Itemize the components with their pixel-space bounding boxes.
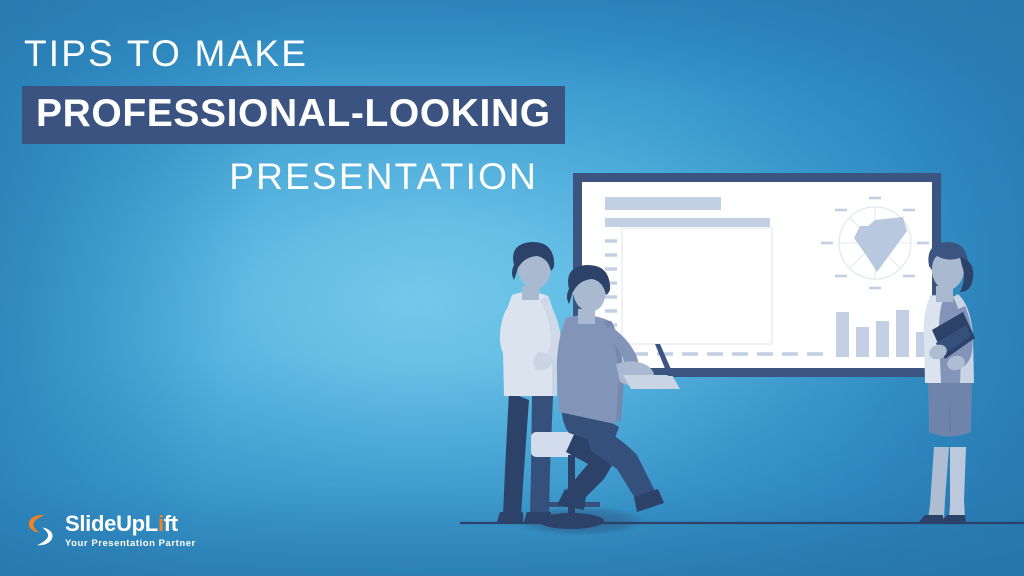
man1-leg-back (503, 392, 529, 515)
logo-text: SlideUpLift Your Presentation Partner (65, 513, 196, 549)
logo-name: SlideUpLift (65, 513, 196, 535)
title-line-2: PROFESSIONAL-LOOKING (36, 94, 551, 133)
slide-title-bar (605, 197, 721, 210)
woman-leg-back (928, 447, 949, 519)
bar-2 (856, 327, 869, 357)
man2-sideburn (567, 289, 573, 304)
title-line-3: PRESENTATION (0, 157, 560, 198)
laptop-base (623, 375, 680, 389)
slide-subtitle-bar (605, 218, 770, 227)
bar-1 (836, 312, 849, 357)
slideuplift-logo[interactable]: SlideUpLift Your Presentation Partner (26, 513, 196, 549)
standing-man-left (497, 242, 561, 522)
woman-shoe-back (918, 515, 944, 523)
man1-shoe-back (497, 512, 523, 522)
stool-base (538, 513, 604, 529)
title-block: TIPS TO MAKE PROFESSIONAL-LOOKING PRESEN… (0, 34, 560, 197)
woman-leg-front (949, 447, 966, 518)
logo-tagline: Your Presentation Partner (65, 539, 196, 549)
man1-sideburn (512, 265, 518, 280)
title-highlight-banner: PROFESSIONAL-LOOKING (22, 86, 565, 144)
bar-3 (876, 321, 889, 357)
bar-4 (896, 310, 909, 357)
title-line-1: TIPS TO MAKE (0, 34, 560, 75)
slideuplift-s-mark-icon (26, 513, 56, 547)
slide-canvas: TIPS TO MAKE PROFESSIONAL-LOOKING PRESEN… (0, 0, 1024, 576)
